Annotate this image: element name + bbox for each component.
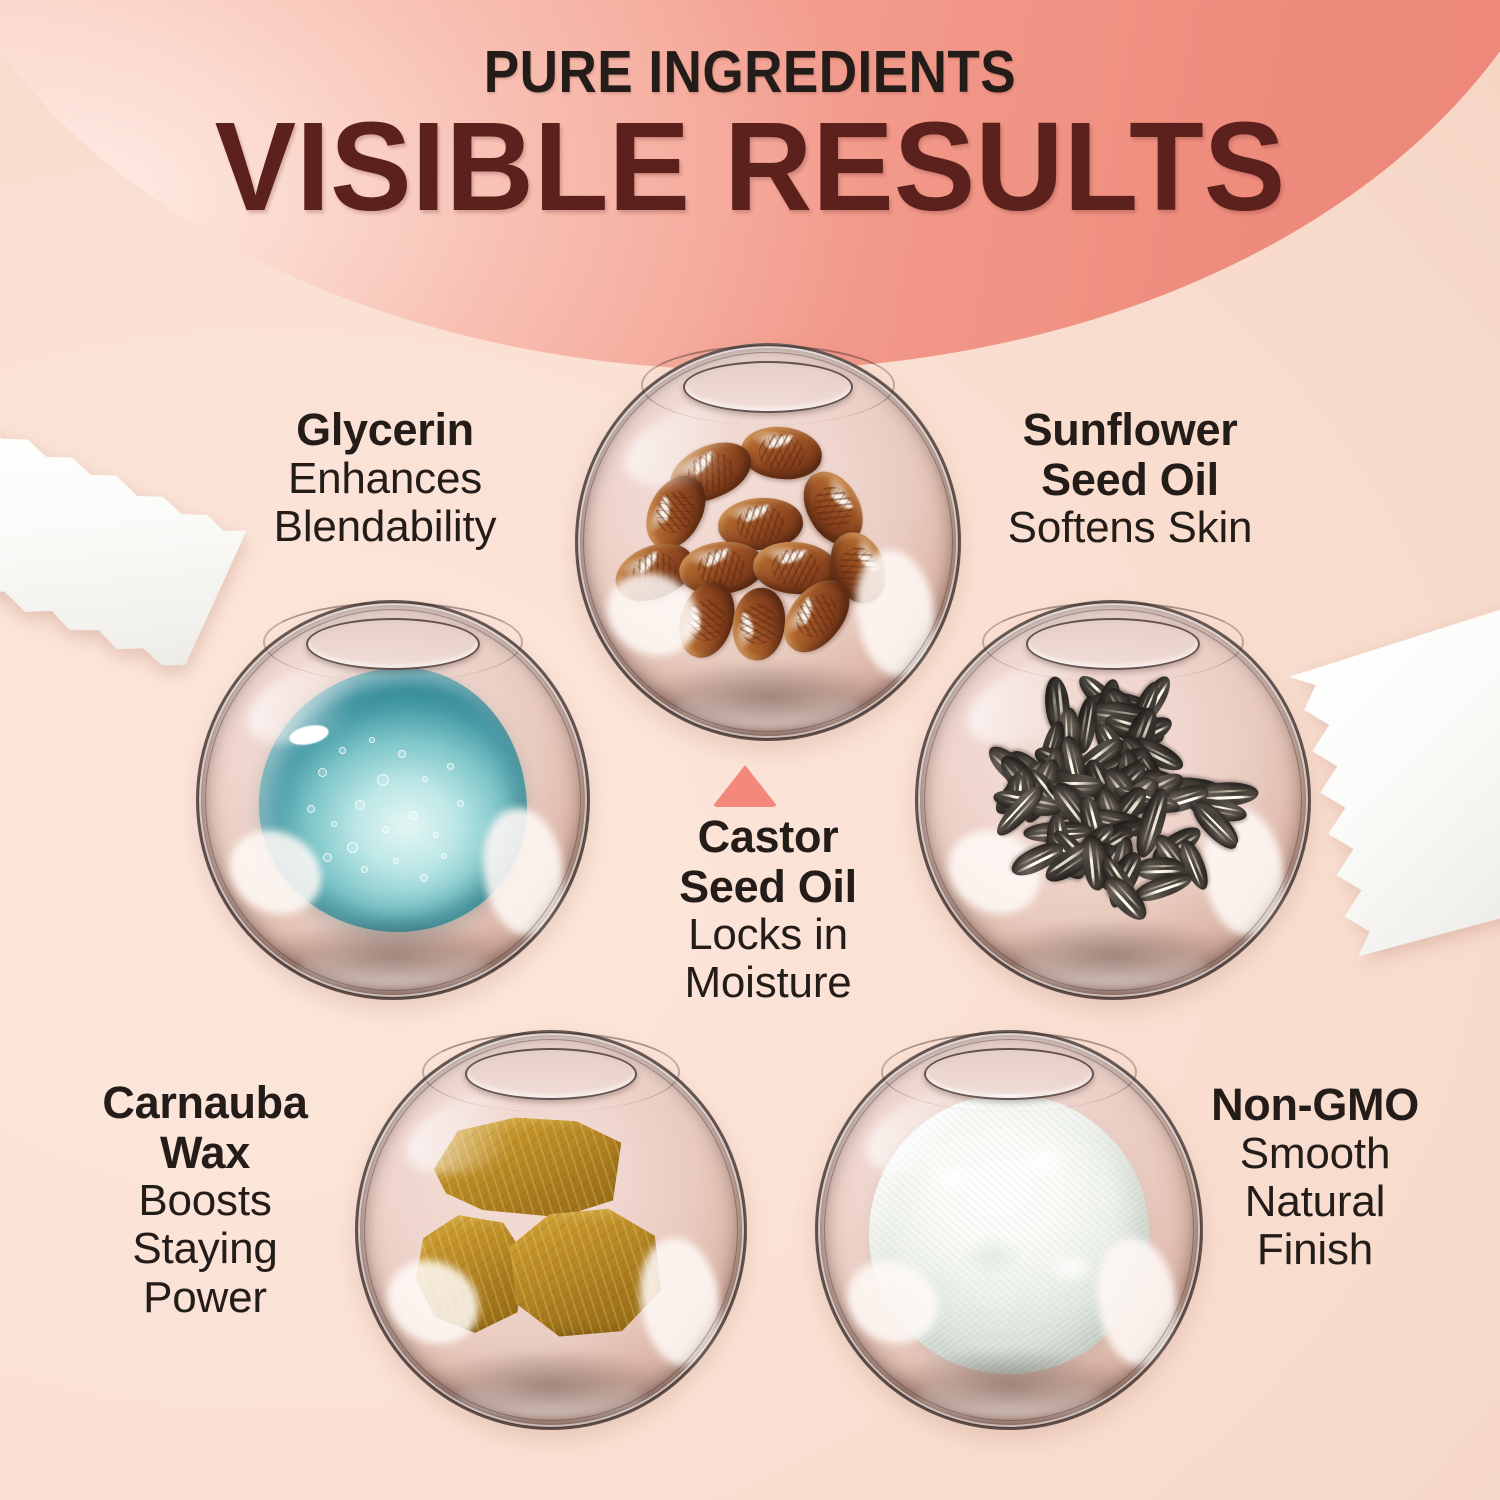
ingredient-desc-line: Locks in <box>612 911 924 959</box>
ingredient-title: Carnauba <box>40 1078 370 1128</box>
ingredient-desc-line: Enhances <box>180 455 590 503</box>
ingredient-desc-line: Blendability <box>180 503 590 551</box>
glass-shadow-bottom <box>371 1334 732 1430</box>
ingredient-sphere-castor <box>575 343 961 741</box>
infographic-canvas: PURE INGREDIENTS VISIBLE RESULTS <box>0 0 1500 1500</box>
ingredient-title: Sunflower <box>955 405 1305 455</box>
glass-shadow-bottom <box>931 904 1295 1000</box>
heading-block: PURE INGREDIENTS VISIBLE RESULTS <box>0 42 1500 230</box>
ingredient-desc-line: Smooth <box>1150 1130 1480 1178</box>
page-title-eyebrow: PURE INGREDIENTS <box>75 42 1425 102</box>
ingredient-title: Seed Oil <box>955 455 1305 505</box>
glass-opening <box>306 618 479 670</box>
ingredient-sphere-nongmo <box>815 1030 1203 1430</box>
wax-chunk <box>500 1206 665 1342</box>
ingredient-label-glycerin: Glycerin Enhances Blendability <box>180 405 590 551</box>
ingredient-desc-line: Staying <box>40 1225 370 1273</box>
ingredient-label-sunflower: Sunflower Seed Oil Softens Skin <box>955 405 1305 552</box>
ingredient-title: Castor <box>612 812 924 862</box>
ingredient-title: Glycerin <box>180 405 590 455</box>
ingredient-title: Wax <box>40 1128 370 1178</box>
ingredient-label-nongmo: Non-GMO Smooth Natural Finish <box>1150 1080 1480 1275</box>
glass-opening <box>683 361 853 413</box>
ingredient-title: Seed Oil <box>612 862 924 912</box>
glass-opening <box>924 1048 1095 1100</box>
ingredient-label-castor: Castor Seed Oil Locks in Moisture <box>612 812 924 1008</box>
glass-opening <box>1026 618 1200 670</box>
ingredient-title: Non-GMO <box>1150 1080 1480 1130</box>
ingredient-desc-line: Moisture <box>612 959 924 1007</box>
ingredient-sphere-carnauba <box>355 1030 747 1430</box>
glass-shadow-bottom <box>212 904 574 1000</box>
ingredient-sphere-sunflower <box>915 600 1311 1000</box>
ingredient-desc-line: Power <box>40 1274 370 1322</box>
ingredient-sphere-glycerin <box>196 600 590 1000</box>
glass-shadow-bottom <box>831 1334 1188 1430</box>
ingredient-label-carnauba: Carnauba Wax Boosts Staying Power <box>40 1078 370 1322</box>
ingredient-desc-line: Softens Skin <box>955 504 1305 552</box>
glass-opening <box>465 1048 637 1100</box>
ingredient-desc-line: Boosts <box>40 1177 370 1225</box>
ingredient-desc-line: Finish <box>1150 1226 1480 1274</box>
ingredient-desc-line: Natural <box>1150 1178 1480 1226</box>
glass-shadow-bottom <box>590 645 945 741</box>
page-title-main: VISIBLE RESULTS <box>23 104 1478 230</box>
